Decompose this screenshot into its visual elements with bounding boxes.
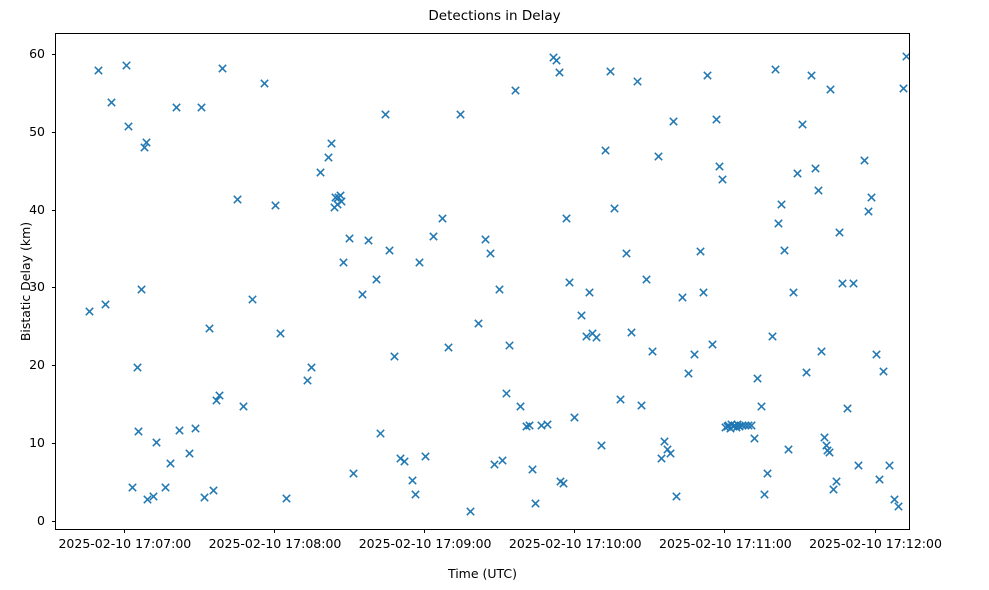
scatter-point — [371, 274, 382, 285]
scatter-point — [530, 498, 541, 509]
scatter-point — [414, 257, 425, 268]
scatter-point — [174, 425, 185, 436]
scatter-point — [151, 437, 162, 448]
scatter-point — [615, 394, 626, 405]
scatter-point — [344, 233, 355, 244]
scatter-point — [384, 245, 395, 256]
scatter-point — [884, 460, 895, 471]
scatter-point — [776, 199, 787, 210]
scatter-point — [564, 277, 575, 288]
scatter-point — [141, 137, 152, 148]
scatter-point — [443, 342, 454, 353]
scatter-point — [217, 63, 228, 74]
scatter-point — [671, 491, 682, 502]
scatter-point — [810, 163, 821, 174]
scatter-point — [632, 76, 643, 87]
scatter-point — [677, 292, 688, 303]
scatter-point — [127, 482, 138, 493]
matplotlib-figure: Detections in Delay Bistatic Delay (km) … — [0, 0, 989, 590]
scatter-point — [558, 478, 569, 489]
scatter-point — [591, 332, 602, 343]
y-tick: 20 — [52, 365, 56, 366]
scatter-point — [315, 167, 326, 178]
scatter-point — [683, 368, 694, 379]
scatter-point — [759, 489, 770, 500]
scatter-point — [866, 192, 877, 203]
scatter-point — [232, 194, 243, 205]
scatter-point — [275, 328, 286, 339]
scatter-point — [208, 485, 219, 496]
x-axis-label: Time (UTC) — [55, 566, 910, 581]
x-tick-label: 2025-02-10 17:10:00 — [509, 536, 642, 551]
scatter-point — [689, 349, 700, 360]
scatter-point — [756, 401, 767, 412]
scatter-point — [746, 420, 757, 431]
scatter-point — [801, 367, 812, 378]
scatter-point — [407, 475, 418, 486]
y-tick-label: 40 — [29, 202, 45, 217]
scatter-point — [863, 206, 874, 217]
scatter-point — [399, 456, 410, 467]
scatter-point — [494, 284, 505, 295]
y-tick-label: 0 — [37, 513, 45, 528]
scatter-point — [501, 388, 512, 399]
x-tick: 2025-02-10 17:12:00 — [875, 529, 876, 533]
scatter-point — [653, 151, 664, 162]
scatter-point — [527, 464, 538, 475]
y-tick: 60 — [52, 54, 56, 55]
scatter-point — [238, 401, 249, 412]
scatter-point — [824, 447, 835, 458]
x-tick: 2025-02-10 17:10:00 — [574, 529, 575, 533]
scatter-point — [831, 476, 842, 487]
scatter-point — [767, 331, 778, 342]
x-tick: 2025-02-10 17:09:00 — [424, 529, 425, 533]
y-tick-label: 20 — [29, 357, 45, 372]
x-tick: 2025-02-10 17:11:00 — [724, 529, 725, 533]
scatter-plot-area — [56, 34, 909, 529]
scatter-point — [428, 231, 439, 242]
scatter-point — [834, 227, 845, 238]
scatter-point — [561, 213, 572, 224]
scatter-point — [596, 440, 607, 451]
scatter-point — [196, 102, 207, 113]
x-tick-label: 2025-02-10 17:07:00 — [58, 536, 191, 551]
scatter-point — [375, 428, 386, 439]
plot-axes: 0102030405060 2025-02-10 17:07:002025-02… — [55, 33, 910, 530]
x-tick: 2025-02-10 17:08:00 — [274, 529, 275, 533]
scatter-point — [859, 155, 870, 166]
x-tick: 2025-02-10 17:07:00 — [124, 529, 125, 533]
scatter-point — [711, 114, 722, 125]
scatter-point — [380, 109, 391, 120]
scatter-point — [816, 346, 827, 357]
scatter-point — [165, 458, 176, 469]
y-tick: 30 — [52, 287, 56, 288]
scatter-point — [576, 310, 587, 321]
y-tick-label: 60 — [29, 46, 45, 61]
x-tick-label: 2025-02-10 17:12:00 — [809, 536, 942, 551]
scatter-point — [797, 119, 808, 130]
scatter-point — [214, 390, 225, 401]
scatter-point — [348, 468, 359, 479]
scatter-point — [455, 109, 466, 120]
scatter-point — [893, 501, 904, 512]
scatter-point — [184, 448, 195, 459]
scatter-point — [389, 351, 400, 362]
scatter-point — [190, 423, 201, 434]
scatter-point — [901, 51, 909, 62]
scatter-point — [160, 482, 171, 493]
scatter-point — [93, 65, 104, 76]
scatter-point — [363, 235, 374, 246]
scatter-point — [270, 200, 281, 211]
scatter-point — [717, 174, 728, 185]
scatter-point — [569, 412, 580, 423]
scatter-point — [204, 323, 215, 334]
scatter-point — [84, 306, 95, 317]
scatter-point — [770, 64, 781, 75]
scatter-point — [788, 287, 799, 298]
scatter-point — [136, 284, 147, 295]
scatter-point — [515, 401, 526, 412]
scatter-point — [336, 196, 347, 207]
scatter-point — [600, 145, 611, 156]
x-tick-label: 2025-02-10 17:09:00 — [359, 536, 492, 551]
y-tick: 50 — [52, 132, 56, 133]
scatter-point — [626, 327, 637, 338]
scatter-point — [306, 362, 317, 373]
scatter-point — [605, 66, 616, 77]
scatter-point — [698, 287, 709, 298]
scatter-point — [762, 468, 773, 479]
scatter-point — [641, 274, 652, 285]
scatter-point — [752, 373, 763, 384]
scatter-point — [524, 420, 535, 431]
scatter-point — [123, 121, 134, 132]
scatter-point — [357, 289, 368, 300]
scatter-point — [302, 375, 313, 386]
scatter-point — [281, 493, 292, 504]
x-tick-label: 2025-02-10 17:11:00 — [659, 536, 792, 551]
scatter-point — [702, 70, 713, 81]
scatter-point — [825, 84, 836, 95]
scatter-point — [665, 448, 676, 459]
scatter-point — [668, 116, 679, 127]
y-tick: 0 — [52, 521, 56, 522]
scatter-point — [542, 419, 553, 430]
scatter-point — [148, 491, 159, 502]
y-tick: 40 — [52, 210, 56, 211]
scatter-point — [504, 340, 515, 351]
scatter-point — [647, 346, 658, 357]
scatter-point — [714, 161, 725, 172]
scatter-point — [437, 213, 448, 224]
scatter-point — [871, 349, 882, 360]
scatter-point — [420, 451, 431, 462]
y-tick-label: 50 — [29, 124, 45, 139]
scatter-point — [338, 257, 349, 268]
scatter-point — [465, 506, 476, 517]
scatter-point — [497, 455, 508, 466]
scatter-point — [898, 83, 909, 94]
scatter-point — [480, 234, 491, 245]
scatter-point — [100, 299, 111, 310]
scatter-point — [510, 85, 521, 96]
scatter-point — [779, 245, 790, 256]
scatter-point — [806, 70, 817, 81]
scatter-point — [878, 366, 889, 377]
scatter-point — [853, 460, 864, 471]
scatter-point — [323, 152, 334, 163]
page-title: Detections in Delay — [0, 8, 989, 24]
scatter-point — [609, 203, 620, 214]
scatter-point — [247, 294, 258, 305]
scatter-point — [259, 78, 270, 89]
y-tick-label: 30 — [29, 279, 45, 294]
scatter-point — [749, 433, 760, 444]
scatter-point — [783, 444, 794, 455]
scatter-point — [121, 60, 132, 71]
scatter-point — [554, 67, 565, 78]
scatter-point — [695, 246, 706, 257]
scatter-point — [133, 426, 144, 437]
scatter-point — [485, 248, 496, 259]
scatter-point — [813, 185, 824, 196]
scatter-point — [837, 278, 848, 289]
scatter-point — [773, 218, 784, 229]
scatter-point — [171, 102, 182, 113]
scatter-point — [842, 403, 853, 414]
scatter-point — [326, 138, 337, 149]
scatter-point — [848, 278, 859, 289]
scatter-point — [874, 474, 885, 485]
scatter-point — [473, 318, 484, 329]
scatter-point — [551, 55, 562, 66]
scatter-point — [410, 489, 421, 500]
y-tick: 10 — [52, 443, 56, 444]
scatter-point — [792, 168, 803, 179]
y-tick-label: 10 — [29, 435, 45, 450]
scatter-point — [106, 97, 117, 108]
scatter-point — [584, 287, 595, 298]
x-tick-label: 2025-02-10 17:08:00 — [209, 536, 342, 551]
scatter-point — [621, 248, 632, 259]
scatter-point — [707, 339, 718, 350]
scatter-point — [636, 400, 647, 411]
scatter-point — [132, 362, 143, 373]
